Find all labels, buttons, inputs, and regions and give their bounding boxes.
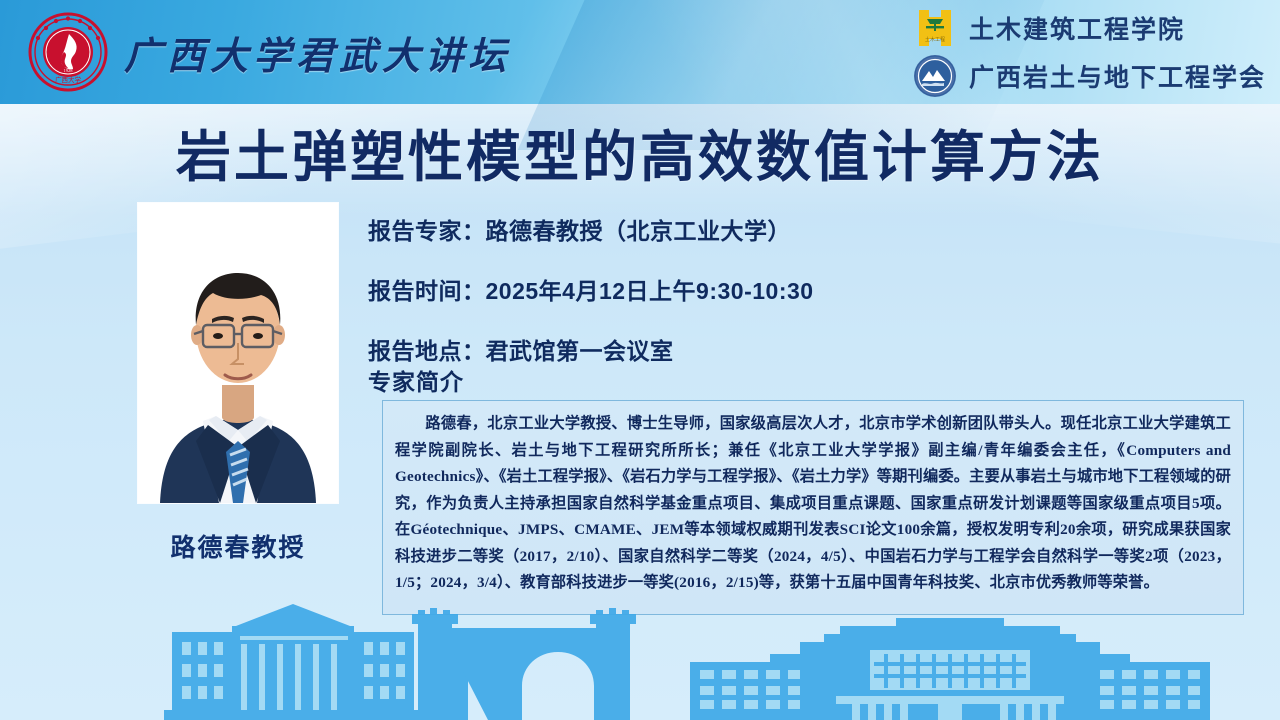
header-right-group: 土木工程 土木建筑工程学院 广西岩土与地下工程学会 [913,6,1266,98]
svg-text:1928: 1928 [64,68,74,73]
lecture-info-block: 报告专家：路德春教授（北京工业大学） 报告时间：2025年4月12日上午9:30… [368,212,1248,392]
speaker-bio-text: 路德春，北京工业大学教授、博士生导师，国家级高层次人才，北京市学术创新团队带头人… [395,411,1231,597]
speaker-caption: 路德春教授 [118,528,358,564]
info-line-time: 报告时间：2025年4月12日上午9:30-10:30 [368,272,1248,306]
geotechnical-society-logo-icon [913,54,957,98]
organization-row-college: 土木工程 土木建筑工程学院 [913,6,1266,50]
gxu-seal-icon: 广西大学 1928 [28,12,108,92]
page-title: 岩土弹塑性模型的高效数值计算方法 [0,112,1280,192]
svg-text:土木工程: 土木工程 [925,36,945,43]
organization-name-society: 广西岩土与地下工程学会 [969,58,1266,94]
info-line-speaker: 报告专家：路德春教授（北京工业大学） [368,212,1248,246]
lecture-series-title: 广西大学君武大讲坛 [124,25,511,80]
bio-section-heading: 专家简介 [368,363,464,397]
info-line-venue: 报告地点：君武馆第一会议室 [368,332,1248,366]
classical-building-icon [164,600,422,720]
modern-campus-building-icon [690,618,1210,720]
lecture-poster: 广西大学 1928 广西大学君武大讲坛 土木工程 土木建筑工程学院 [0,0,1280,720]
speaker-photo [138,203,338,503]
campus-skyline-decoration [0,600,1280,720]
svg-text:广西大学: 广西大学 [55,75,82,84]
organization-row-society: 广西岩土与地下工程学会 [913,54,1266,98]
civil-engineering-college-logo-icon: 土木工程 [913,6,957,50]
organization-name-college: 土木建筑工程学院 [969,10,1185,46]
speaker-bio-box: 路德春，北京工业大学教授、博士生导师，国家级高层次人才，北京市学术创新团队带头人… [382,400,1244,615]
header-left-group: 广西大学 1928 广西大学君武大讲坛 [28,12,511,92]
